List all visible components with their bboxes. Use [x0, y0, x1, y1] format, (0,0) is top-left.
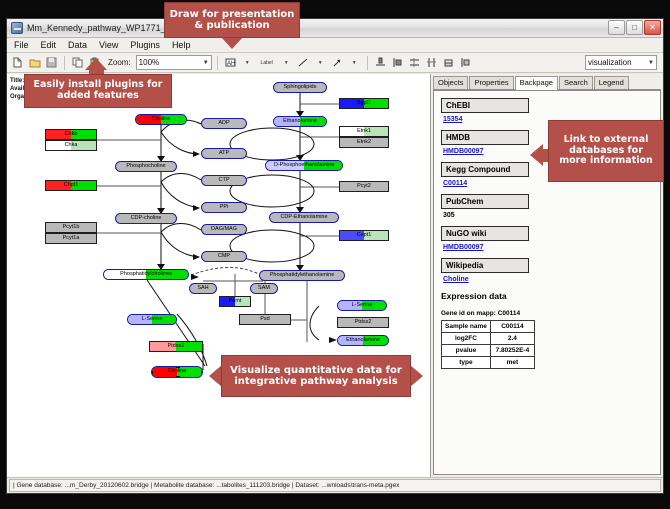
pathway-node-ethanolamine1[interactable]: Ethanolamine	[273, 116, 327, 127]
callout-plugins-line2: added features	[57, 91, 139, 102]
table-cell-key: type	[442, 357, 491, 369]
table-row: Sample nameC00114	[442, 321, 535, 333]
selection-handle-0[interactable]	[151, 366, 153, 368]
menu-edit[interactable]: Edit	[39, 40, 59, 50]
node-label: Pcyt1b	[63, 225, 80, 231]
db-box-pubchem: PubChem	[441, 194, 529, 209]
pathway-node-ptdss2[interactable]: Ptdss2	[337, 317, 389, 328]
table-cell-key: pvalue	[442, 345, 491, 357]
pathway-node-l_serine_r[interactable]: L-Serine	[337, 300, 387, 311]
pathway-node-choline_sel[interactable]: Choline	[151, 366, 203, 378]
pathway-node-ptdss1[interactable]: Ptdss1	[149, 341, 203, 352]
toolbar-separator-3	[367, 56, 368, 70]
close-button[interactable]: ✕	[644, 20, 661, 35]
node-label: SAM	[258, 286, 270, 292]
table-cell-value: 7.80252E-4	[490, 345, 534, 357]
pathway-node-chkb[interactable]: Chkb	[45, 129, 97, 140]
pathway-node-etnk1[interactable]: Etnk1	[339, 126, 389, 137]
node-label: Phosphatidylethanolamine	[270, 273, 335, 279]
node-label: Phosphocholine	[126, 164, 165, 170]
callout-draw-arrow-icon	[221, 37, 243, 49]
status-bar-text: | Gene database: ...m_Derby_20120602.bri…	[9, 479, 661, 492]
svg-text:AH: AH	[227, 61, 235, 67]
node-label: Pemt	[229, 299, 242, 305]
pathway-node-ppi[interactable]: PPi	[201, 202, 247, 213]
node-label: L-Serine	[142, 317, 163, 323]
title-bar: Mm_Kennedy_pathway_WP1771_45176.gpml – □…	[7, 19, 663, 38]
callout-visualize-arrow-right-icon	[410, 365, 423, 387]
db-box-kegg-compound: Kegg Compound	[441, 162, 529, 177]
node-label: Psd	[260, 317, 269, 323]
table-row: typemet	[442, 357, 535, 369]
node-label: CTP	[219, 178, 230, 184]
line-icon[interactable]	[296, 55, 311, 70]
menu-data[interactable]: Data	[66, 40, 89, 50]
pathway-node-chka[interactable]: Chka	[45, 140, 97, 151]
node-label: Ethanolamine	[346, 338, 380, 344]
node-label: CDP-Ethanolamine	[280, 215, 327, 221]
toolbar-separator	[64, 56, 65, 70]
selection-handle-3[interactable]	[151, 371, 153, 375]
node-label: Phosphatidylcholines	[120, 272, 172, 278]
chevron-down-icon-2: ▼	[648, 60, 654, 66]
label-dropdown[interactable]: Label	[257, 55, 277, 70]
node-label: DAG/MAG	[211, 227, 237, 233]
menu-file[interactable]: File	[12, 40, 31, 50]
callout-link-line1: Link to external	[564, 135, 649, 146]
pathway-node-cdp_choline[interactable]: CDP-choline	[115, 213, 177, 224]
pathway-node-l_serine_l[interactable]: L-Serine	[127, 314, 177, 325]
arrow-icon[interactable]	[330, 55, 345, 70]
align-left-icon[interactable]	[390, 55, 405, 70]
pathway-node-ethanolamine2[interactable]: Ethanolamine	[337, 335, 389, 346]
pathway-node-sam[interactable]: SAM	[250, 283, 278, 294]
tab-legend[interactable]: Legend	[594, 76, 629, 89]
pathway-node-pcyt1b[interactable]: Pcyt1b	[45, 222, 97, 233]
db-link-wikipedia[interactable]: Choline	[443, 276, 660, 283]
status-bar: | Gene database: ...m_Derby_20120602.bri…	[7, 477, 663, 493]
side-panel-tabs: Objects Properties Backpage Search Legen…	[433, 76, 661, 90]
pathway-node-dagmag[interactable]: DAG/MAG	[201, 224, 247, 235]
menu-plugins[interactable]: Plugins	[128, 40, 162, 50]
pathway-node-sah[interactable]: SAH	[189, 283, 217, 294]
tab-search[interactable]: Search	[559, 76, 593, 89]
callout-visualize-line2: integrative pathway analysis	[234, 376, 397, 388]
align-bottom-icon[interactable]	[373, 55, 388, 70]
pathway-node-pcyt2[interactable]: Pcyt2	[339, 181, 389, 192]
pathway-node-etnk2[interactable]: Etnk2	[339, 137, 389, 148]
text-label-icon[interactable]: AH	[223, 55, 238, 70]
node-label: Pcyt1a	[63, 236, 80, 242]
callout-visualize-line1: Visualize quantitative data for	[230, 365, 402, 377]
arrow-dropdown-icon[interactable]: ▼	[347, 55, 362, 70]
zoom-label: Zoom:	[108, 58, 131, 67]
db-box-chebi: ChEBI	[441, 98, 529, 113]
zoom-combo[interactable]: 100% ▼	[136, 55, 212, 70]
label-dropdown-icon[interactable]: ▼	[240, 55, 255, 70]
minimize-button[interactable]: –	[608, 20, 625, 35]
callout-visualize: Visualize quantitative data for integrat…	[221, 355, 411, 397]
callout-draw-line1: Draw for presentation	[170, 9, 295, 21]
bring-front-icon[interactable]	[458, 55, 473, 70]
visualization-combo[interactable]: visualization ▼	[585, 55, 657, 70]
callout-draw-line2: & publication	[194, 20, 269, 32]
node-label: ADP	[218, 121, 229, 127]
menu-bar: File Edit Data View Plugins Help	[7, 38, 663, 53]
table-row: log2FC2.4	[442, 333, 535, 345]
callout-link-databases: Link to external databases for more info…	[548, 120, 664, 182]
db-box-hmdb: HMDB	[441, 130, 529, 145]
pathway-canvas[interactable]: Title: Availa Organi	[7, 74, 431, 477]
new-file-icon[interactable]	[10, 55, 25, 70]
db-link-nugo-wiki[interactable]: HMDB00097	[443, 244, 660, 251]
node-label: Sphingolipids	[284, 85, 317, 91]
pathway-node-ctp[interactable]: CTP	[201, 175, 247, 186]
pathway-node-cmp[interactable]: CMP	[201, 251, 247, 262]
pathway-node-atp[interactable]: ATP	[201, 148, 247, 159]
distribute-vertical-icon[interactable]	[407, 55, 422, 70]
node-label: ATP	[219, 151, 229, 157]
node-label: Ptdss1	[168, 344, 185, 350]
pathway-node-ophosphoetn[interactable]: O-Phosphoethanolamine	[265, 160, 343, 171]
table-cell-value: met	[490, 357, 534, 369]
maximize-button[interactable]: □	[626, 20, 643, 35]
expression-data-header: Expression data	[441, 291, 660, 301]
table-row: pvalue7.80252E-4	[442, 345, 535, 357]
app-icon	[11, 22, 23, 34]
tab-properties[interactable]: Properties	[469, 76, 513, 89]
pathway-node-phosphocholine[interactable]: Phosphocholine	[115, 161, 177, 172]
callout-link-line3: more information	[559, 156, 653, 167]
menu-help[interactable]: Help	[170, 40, 193, 50]
pathway-node-ptdcholines[interactable]: Phosphatidylcholines	[103, 269, 189, 280]
node-label: SAH	[197, 286, 208, 292]
pathway-node-psd[interactable]: Psd	[239, 314, 291, 325]
node-label: O-Phosphoethanolamine	[274, 163, 335, 169]
db-box-nugo-wiki: NuGO wiki	[441, 226, 529, 241]
open-folder-icon[interactable]	[27, 55, 42, 70]
pathway-node-choline_top[interactable]: Choline	[135, 114, 187, 125]
stack-icon[interactable]	[441, 55, 456, 70]
expression-table: Sample nameC00114log2FC2.4pvalue7.80252E…	[441, 320, 535, 369]
table-cell-key: log2FC	[442, 333, 491, 345]
save-icon[interactable]	[44, 55, 59, 70]
pathway-node-sphingolipids[interactable]: Sphingolipids	[273, 82, 327, 93]
distribute-horizontal-icon[interactable]	[424, 55, 439, 70]
pathway-node-cept1[interactable]: Cept1	[339, 230, 389, 241]
zoom-value: 100%	[139, 58, 159, 67]
node-label: Ptdss2	[355, 320, 372, 326]
pathway-node-chpt1[interactable]: Chpt1	[45, 180, 97, 191]
node-label: Etnk1	[357, 129, 371, 135]
node-label: Etnk2	[357, 140, 371, 146]
pathway-node-ptdetn[interactable]: Phosphatidylethanolamine	[259, 270, 345, 281]
node-label: Chkb	[65, 132, 78, 138]
tab-backpage[interactable]: Backpage	[515, 76, 558, 90]
copy-icon[interactable]	[70, 55, 85, 70]
node-label: Pcyt2	[357, 184, 371, 190]
db-value-pubchem: 305	[443, 212, 660, 219]
table-cell-value: 2.4	[490, 333, 534, 345]
pathway-node-pcyt1a[interactable]: Pcyt1a	[45, 233, 97, 244]
pathway-node-pemt[interactable]: Pemt	[219, 296, 251, 307]
pathway-node-cdp_etn[interactable]: CDP-Ethanolamine	[269, 212, 339, 223]
tab-objects[interactable]: Objects	[433, 76, 468, 89]
pathway-node-sgpl1[interactable]: Sgpl1	[339, 98, 389, 109]
pathway-node-adp[interactable]: ADP	[201, 118, 247, 129]
gene-id-line: Gene id on mapp: C00114	[441, 310, 660, 317]
chevron-down-icon: ▼	[203, 60, 209, 66]
screen-root: Mm_Kennedy_pathway_WP1771_45176.gpml – □…	[0, 0, 670, 509]
visualization-value: visualization	[588, 58, 632, 67]
selection-handle-6[interactable]	[176, 376, 180, 378]
node-label: Choline	[152, 117, 171, 123]
node-label: Ethanolamine	[283, 119, 317, 125]
selection-handle-1[interactable]	[176, 366, 180, 368]
toolbar-separator-2	[217, 56, 218, 70]
menu-view[interactable]: View	[97, 40, 120, 50]
node-label: Choline	[168, 369, 187, 375]
node-label: CMP	[218, 254, 230, 260]
node-label: CDP-choline	[131, 216, 162, 222]
line-dropdown-icon[interactable]: ▼	[313, 55, 328, 70]
node-label: Sgpl1	[357, 101, 371, 107]
callout-plugins: Easily install plugins for added feature…	[24, 74, 172, 108]
db-box-wikipedia: Wikipedia	[441, 258, 529, 273]
node-label: L-Serine	[352, 303, 373, 309]
label-dropdown-arrow-icon[interactable]: ▼	[279, 55, 294, 70]
node-label: PPi	[220, 205, 229, 211]
node-label: Chpt1	[64, 183, 79, 189]
callout-draw: Draw for presentation & publication	[164, 2, 300, 38]
table-cell-key: Sample name	[442, 321, 491, 333]
node-label: Cept1	[357, 233, 372, 239]
node-label: Chka	[65, 143, 78, 149]
table-cell-value: C00114	[490, 321, 534, 333]
window-controls: – □ ✕	[608, 20, 661, 35]
